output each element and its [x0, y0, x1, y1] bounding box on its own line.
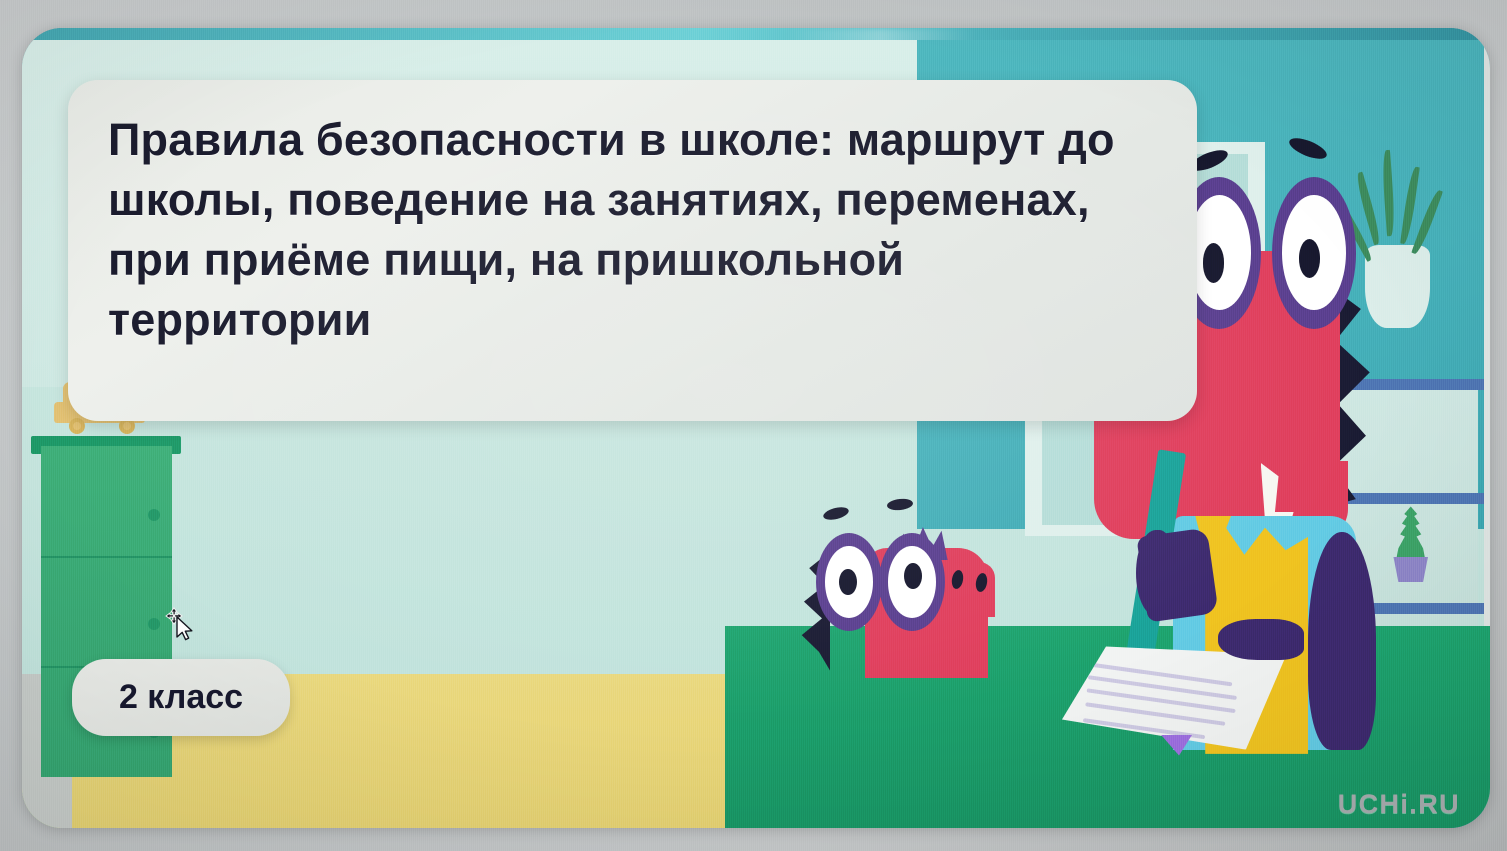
dresser-knob	[148, 618, 160, 630]
grade-badge: 2 класс	[72, 659, 290, 736]
teacher-lens	[1272, 177, 1356, 329]
move-cursor	[165, 606, 199, 642]
teacher-left-hand	[1136, 530, 1176, 616]
student-eye-white	[888, 546, 937, 618]
teacher-glasses	[1177, 177, 1355, 329]
student-pupil	[904, 563, 922, 589]
paper-line	[1089, 675, 1238, 700]
student-lens	[816, 533, 882, 631]
page-title: Правила безопасности в школе: маршрут до…	[108, 110, 1157, 350]
student-eye-white	[825, 546, 874, 618]
teacher-pupil	[1299, 239, 1321, 278]
teacher-pupil	[1203, 243, 1225, 282]
teacher-hand-on-paper	[1218, 619, 1303, 660]
title-card: Правила безопасности в школе: маршрут до…	[68, 80, 1197, 421]
teacher-right-arm	[1308, 532, 1375, 750]
student-lens	[879, 533, 945, 631]
uchi-ru-logo: UCHi.RU	[1338, 789, 1460, 820]
student-snout	[943, 562, 995, 616]
teacher-brow	[1287, 135, 1330, 164]
student-brow	[822, 505, 850, 522]
dinosaur-student	[793, 497, 1028, 678]
student-glasses	[816, 533, 948, 631]
student-pupil	[839, 569, 857, 595]
dresser-seam	[41, 556, 172, 558]
screen-photo: Правила безопасности в школе: маршрут до…	[0, 0, 1507, 851]
grade-badge-label: 2 класс	[119, 678, 243, 717]
teacher-eye-white	[1188, 195, 1252, 311]
teacher-eye-white	[1282, 195, 1346, 311]
dresser-knob	[148, 509, 160, 521]
student-brow	[886, 497, 913, 511]
lesson-slide: Правила безопасности в школе: маршрут до…	[22, 28, 1490, 828]
